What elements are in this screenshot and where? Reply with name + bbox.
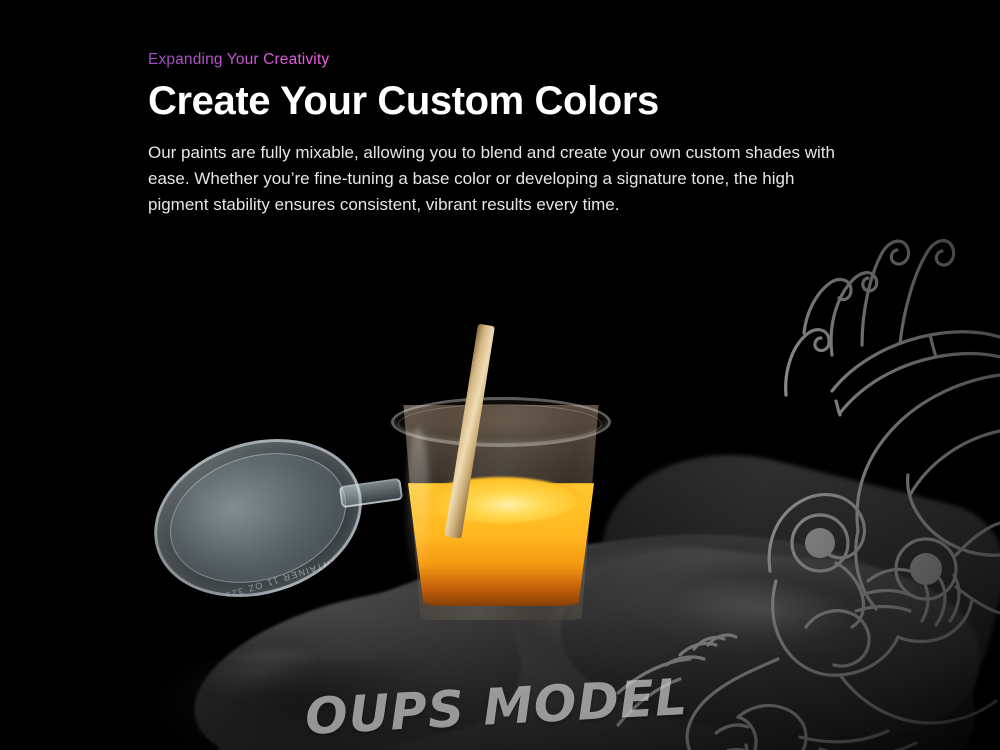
lid-embossed-text: CONTAINER 11 OZ 325 ml <box>134 414 381 621</box>
paint-cup-rim <box>391 397 611 447</box>
body-paragraph: Our paints are fully mixable, allowing y… <box>148 140 858 217</box>
eyebrow-label: Expanding Your Creativity <box>148 50 329 70</box>
slide-canvas: CONTAINER 11 OZ 325 ml <box>0 0 1000 750</box>
paint-cup-lid: CONTAINER 11 OZ 325 ml <box>152 442 364 594</box>
cup-highlight <box>407 427 429 577</box>
page-title: Create Your Custom Colors <box>148 79 860 124</box>
paint-cup-inner-rim <box>398 404 602 444</box>
text-content-block: Expanding Your Creativity Create Your Cu… <box>148 50 860 217</box>
paint-cup <box>395 405 607 620</box>
